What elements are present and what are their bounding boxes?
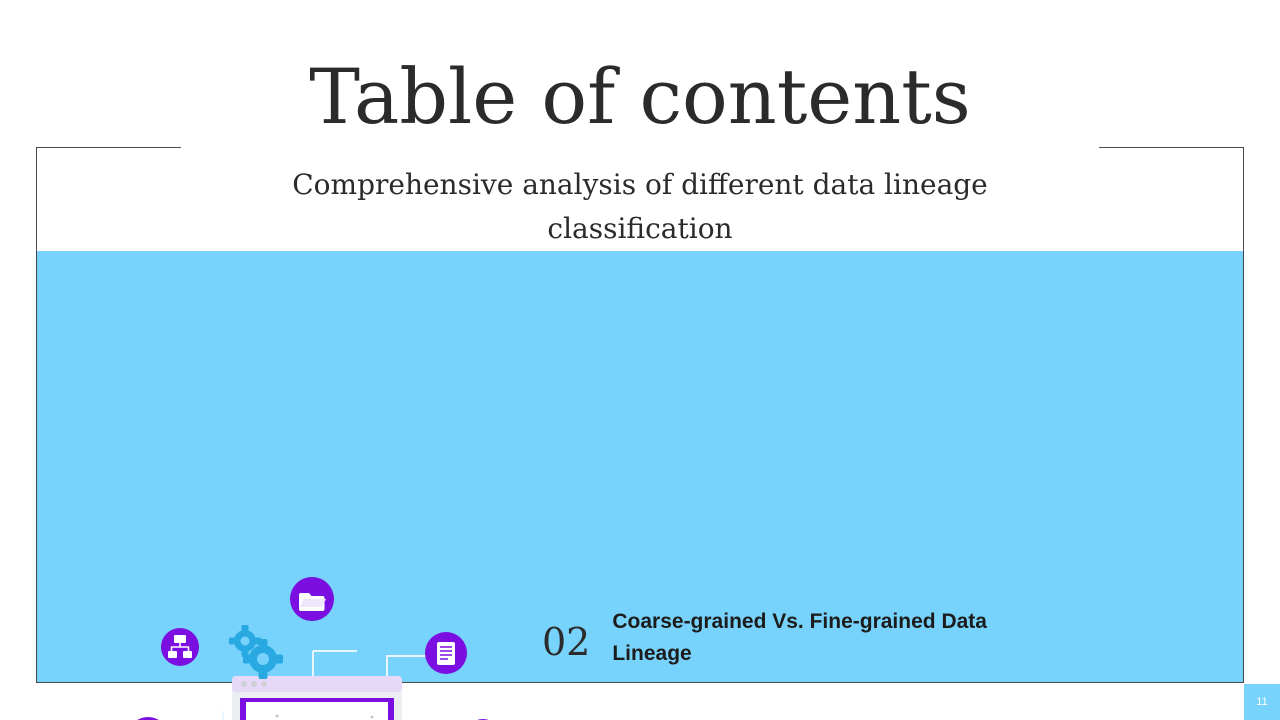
toc-entry-label: Coarse-grained Vs. Fine-grained Data Lin… xyxy=(612,606,1042,670)
content-panel: 02 Coarse-grained Vs. Fine-grained Data … xyxy=(37,251,1243,682)
folder-icon xyxy=(290,577,334,621)
page-title: Table of contents xyxy=(0,52,1280,142)
page-number: 11 xyxy=(1256,696,1267,708)
gears-icon xyxy=(229,625,283,679)
toc-entry-number: 02 xyxy=(542,606,590,664)
sitemap-icon xyxy=(161,628,199,666)
toc-entry[interactable]: 02 Coarse-grained Vs. Fine-grained Data … xyxy=(542,606,1042,670)
page-subtitle: Comprehensive analysis of different data… xyxy=(240,163,1040,251)
slide: Table of contents Comprehensive analysis… xyxy=(0,0,1280,720)
data-lineage-laptop-illustration xyxy=(127,551,527,720)
document-icon xyxy=(425,632,467,674)
page-number-badge: 11 xyxy=(1244,684,1280,720)
